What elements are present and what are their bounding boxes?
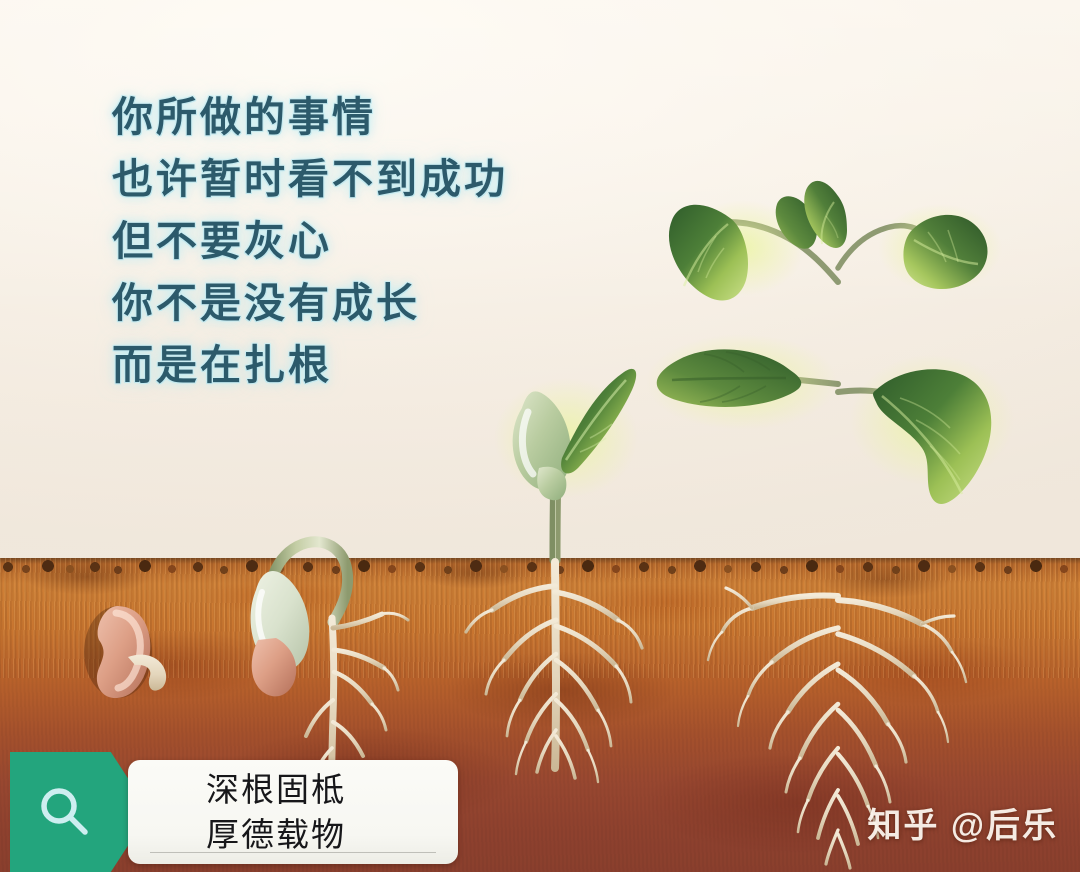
banner-slogan-line-2: 厚德载物 — [206, 812, 346, 857]
zhihu-watermark: 知乎 @后乐 — [867, 798, 1058, 847]
quote-line-2: 也许暂时看不到成功 — [112, 148, 672, 210]
quote-line-3: 但不要灰心 — [112, 210, 672, 272]
banner-slogan-line-1: 深根固柢 — [206, 767, 346, 812]
quote-line-4: 你不是没有成长 — [112, 272, 672, 334]
soil-crumb-edge — [0, 558, 1080, 574]
quote-line-5: 而是在扎根 — [112, 334, 672, 396]
search-icon[interactable] — [34, 781, 96, 843]
banner-card[interactable]: 深根固柢 厚德载物 — [128, 760, 458, 864]
poster-canvas: 你所做的事情 也许暂时看不到成功 但不要灰心 你不是没有成长 而是在扎根 — [0, 0, 1080, 872]
quote-line-1: 你所做的事情 — [112, 86, 672, 148]
quote-block: 你所做的事情 也许暂时看不到成功 但不要灰心 你不是没有成长 而是在扎根 — [112, 86, 672, 396]
soil-topsoil-fiber — [0, 558, 1080, 678]
banner-slogan: 深根固柢 厚德载物 — [206, 767, 346, 857]
banner-card-underline — [150, 852, 436, 853]
